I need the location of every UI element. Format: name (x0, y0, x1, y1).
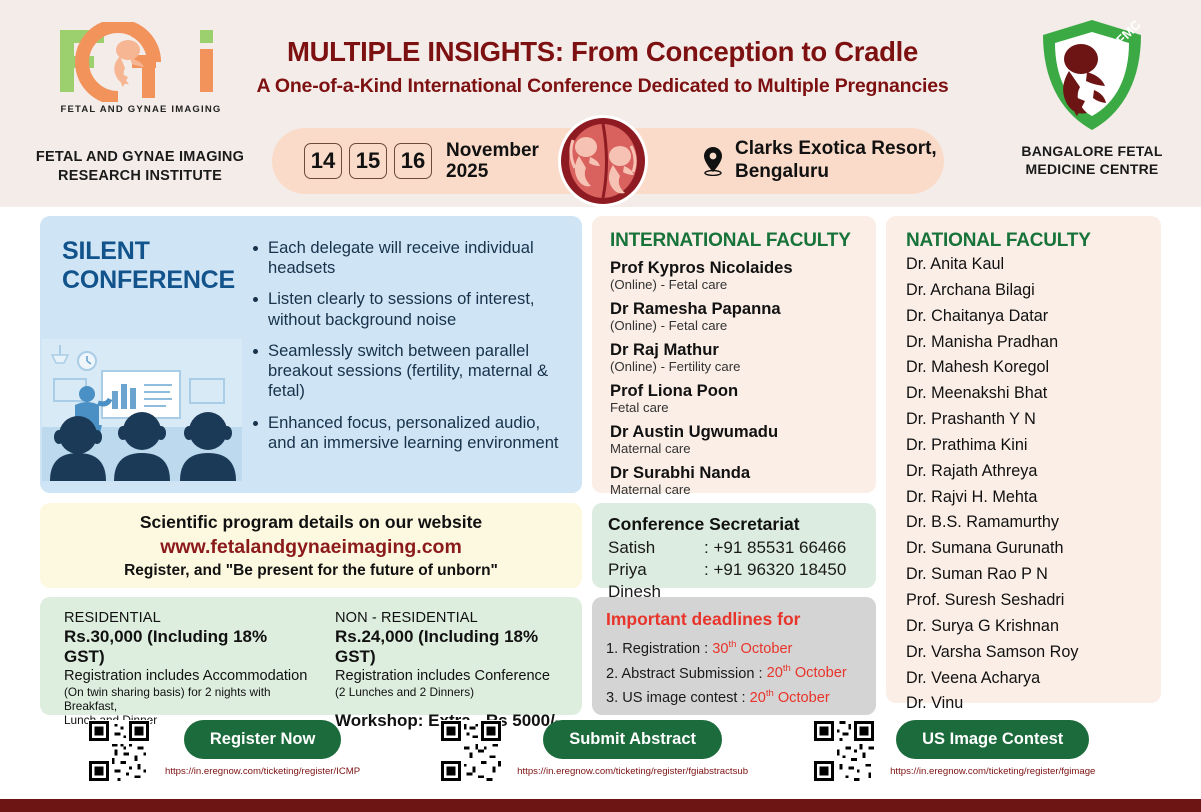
page-title: MULTIPLE INSIGHTS: From Conception to Cr… (240, 36, 965, 68)
national-faculty-title: NATIONAL FACULTY (906, 230, 1145, 252)
national-faculty-panel: NATIONAL FACULTY Dr. Anita Kaul Dr. Arch… (886, 216, 1161, 703)
residential-fee-block: RESIDENTIAL Rs.30,000 (Including 18% GST… (40, 610, 311, 715)
deadline-label: US image contest : (622, 690, 749, 706)
list-item: Dr. Meenakshi Bhat (906, 381, 1145, 407)
fgi-logo-icon (46, 22, 236, 102)
list-item: Prof Liona Poon Fetal care (610, 381, 860, 416)
fgi-logo-mark (46, 22, 236, 102)
title-block: MULTIPLE INSIGHTS: From Conception to Cr… (240, 36, 965, 98)
deadline-date: 20th October (750, 690, 830, 706)
website-url[interactable]: www.fetalandgynaeimaging.com (160, 536, 462, 559)
silent-conference-title: SILENTCONFERENCE (40, 216, 245, 295)
register-url[interactable]: https://in.eregnow.com/ticketing/registe… (165, 766, 360, 777)
conference-audience-icon (42, 339, 242, 481)
list-item: Listen clearly to sessions of interest, … (251, 289, 570, 329)
bfmc-logo: BFMC BANGALORE FETALMEDICINE CENTRE (1007, 16, 1177, 178)
list-item: Dr. Archana Bilagi (906, 278, 1145, 304)
silent-conference-left: SILENTCONFERENCE (40, 216, 245, 493)
faculty-name: Dr Raj Mathur (610, 340, 860, 359)
list-item: Dr. Prashanth Y N (906, 407, 1145, 433)
list-item: Dr. Mahesh Koregol (906, 355, 1145, 381)
poster-header: FETAL AND GYNAE IMAGING FETAL AND GYNAE … (0, 0, 1201, 207)
faculty-name: Prof Kypros Nicolaides (610, 258, 860, 277)
list-item: Dr. Manisha Pradhan (906, 330, 1145, 356)
list-item: 1. Registration : 30th October (606, 637, 876, 662)
date-day-2: 15 (349, 143, 387, 179)
international-faculty-panel: INTERNATIONAL FACULTY Prof Kypros Nicola… (592, 216, 876, 493)
qr-code-icon (814, 721, 874, 781)
qr-code-icon (89, 721, 149, 781)
contact-name: Satish (608, 537, 704, 559)
list-item: Dr Ramesha Papanna (Online) - Fetal care (610, 299, 860, 334)
image-contest-qr-code[interactable] (813, 720, 875, 782)
website-line-1: Scientific program details on our websit… (140, 512, 482, 533)
date-day-1: 14 (304, 143, 342, 179)
website-line-3: Register, and "Be present for the future… (124, 562, 498, 580)
list-item: 2. Abstract Submission : 20th October (606, 662, 876, 687)
deadline-date: 20th October (767, 665, 847, 681)
image-contest-cta-right: US Image Contest https://in.eregnow.com/… (890, 720, 1095, 777)
fee-price: Rs.30,000 (Including 18% GST) (64, 627, 311, 667)
faculty-name: Prof Liona Poon (610, 381, 860, 400)
abstract-cta-right: Submit Abstract https://in.eregnow.com/t… (517, 720, 748, 777)
fees-panel: RESIDENTIAL Rs.30,000 (Including 18% GST… (40, 597, 582, 715)
list-item: Prof Kypros Nicolaides (Online) - Fetal … (610, 258, 860, 293)
register-cta-right: Register Now https://in.eregnow.com/tick… (165, 720, 360, 777)
conference-poster: FETAL AND GYNAE IMAGING FETAL AND GYNAE … (0, 0, 1201, 812)
qr-code-icon (441, 721, 501, 781)
deadline-label: Abstract Submission : (621, 665, 766, 681)
website-panel: Scientific program details on our websit… (40, 503, 582, 588)
fee-includes: Registration includes Accommodation (64, 668, 311, 685)
fee-price: Rs.24,000 (Including 18% GST) (335, 627, 582, 667)
deadline-label: Registration : (622, 641, 712, 657)
fgi-logo-caption: FETAL AND GYNAE IMAGING (46, 104, 236, 115)
fgi-institute-name: FETAL AND GYNAE IMAGING RESEARCH INSTITU… (20, 148, 260, 185)
list-item: Dr. Prathima Kini (906, 433, 1145, 459)
deadlines-title: Important deadlines for (606, 609, 876, 630)
list-item: Dr. Sumana Gurunath (906, 536, 1145, 562)
deadline-number: 2. (606, 665, 618, 681)
fee-note-1: (2 Lunches and 2 Dinners) (335, 685, 582, 699)
contact-phone: : +91 85531 66466 (704, 537, 846, 559)
list-item: Dr Surabhi Nanda Maternal care (610, 463, 860, 498)
list-item: Dr. Surya G Krishnan (906, 614, 1145, 640)
list-item: Dr. Chaitanya Datar (906, 304, 1145, 330)
list-item: Dr. Rajvi H. Mehta (906, 485, 1145, 511)
abstract-cta-group: Submit Abstract https://in.eregnow.com/t… (440, 720, 748, 810)
register-now-button[interactable]: Register Now (184, 720, 341, 759)
abstract-qr-code[interactable] (440, 720, 502, 782)
cta-row: Register Now https://in.eregnow.com/tick… (0, 720, 1201, 810)
fgi-logo: FETAL AND GYNAE IMAGING (46, 22, 236, 115)
location-pin-icon (702, 146, 724, 176)
silent-conference-panel: SILENTCONFERENCE (40, 216, 582, 493)
image-contest-cta-group: US Image Contest https://in.eregnow.com/… (813, 720, 1095, 810)
register-cta-group: Register Now https://in.eregnow.com/tick… (88, 720, 360, 810)
list-item: Dr. Veena Acharya (906, 666, 1145, 692)
list-item: Dr. Varsha Samson Roy (906, 640, 1145, 666)
secretariat-title: Conference Secretariat (608, 514, 876, 535)
date-venue-bar: 14 15 16 November2025 (272, 128, 944, 194)
list-item: Dr. B.S. Ramamurthy (906, 510, 1145, 536)
register-qr-code[interactable] (88, 720, 150, 782)
list-item: Dr. Suman Rao P N (906, 562, 1145, 588)
faculty-role: Fetal care (610, 400, 860, 416)
faculty-name: Dr Austin Ugwumadu (610, 422, 860, 441)
list-item: Seamlessly switch between parallel break… (251, 341, 570, 402)
fee-kind: NON - RESIDENTIAL (335, 610, 582, 626)
list-item: Dr. Anita Kaul (906, 252, 1145, 278)
abstract-url[interactable]: https://in.eregnow.com/ticketing/registe… (517, 766, 748, 777)
bfmc-name: BANGALORE FETALMEDICINE CENTRE (1007, 143, 1177, 178)
faculty-role: Maternal care (610, 441, 860, 457)
fee-includes: Registration includes Conference (335, 668, 582, 685)
deadline-number: 3. (606, 690, 618, 706)
faculty-role: (Online) - Fertility care (610, 359, 860, 375)
list-item: Dr Raj Mathur (Online) - Fertility care (610, 340, 860, 375)
list-item: Each delegate will receive individual he… (251, 238, 570, 278)
image-contest-url[interactable]: https://in.eregnow.com/ticketing/registe… (890, 766, 1095, 777)
list-item: Prof. Suresh Seshadri (906, 588, 1145, 614)
bfmc-shield-icon: BFMC (1037, 16, 1147, 134)
bottom-accent-bar (0, 799, 1201, 812)
venue-name: Clarks Exotica Resort,Bengaluru (735, 138, 937, 184)
deadline-number: 1. (606, 641, 618, 657)
poster-body: SILENTCONFERENCE (0, 207, 1201, 812)
fee-kind: RESIDENTIAL (64, 610, 311, 626)
deadline-date: 30th October (712, 641, 792, 657)
submit-abstract-button[interactable]: Submit Abstract (543, 720, 722, 759)
silent-conference-benefits: Each delegate will receive individual he… (245, 216, 582, 493)
list-item: Dr. Vinu (906, 691, 1145, 717)
faculty-name: Dr Surabhi Nanda (610, 463, 860, 482)
international-faculty-title: INTERNATIONAL FACULTY (610, 230, 860, 252)
faculty-name: Dr Ramesha Papanna (610, 299, 860, 318)
venue-block: Clarks Exotica Resort,Bengaluru (702, 138, 937, 184)
faculty-role: (Online) - Fetal care (610, 318, 860, 334)
conference-dates: 14 15 16 (304, 143, 432, 179)
list-item: Enhanced focus, personalized audio, and … (251, 413, 570, 453)
list-item: Satish : +91 85531 66466 (608, 537, 876, 559)
secretariat-panel: Conference Secretariat Satish : +91 8553… (592, 503, 876, 588)
deadlines-panel: Important deadlines for 1. Registration … (592, 597, 876, 715)
date-month-year: November2025 (446, 140, 539, 183)
list-item: 3. US image contest : 20th October (606, 686, 876, 711)
list-item: Dr Austin Ugwumadu Maternal care (610, 422, 860, 457)
page-subtitle: A One-of-a-Kind International Conference… (240, 75, 965, 98)
faculty-role: Maternal care (610, 482, 860, 498)
faculty-role: (Online) - Fetal care (610, 277, 860, 293)
twin-fetus-icon (557, 114, 649, 208)
silent-conference-illustration (42, 339, 242, 481)
date-day-3: 16 (394, 143, 432, 179)
fee-note-1: (On twin sharing basis) for 2 nights wit… (64, 685, 311, 713)
non-residential-fee-block: NON - RESIDENTIAL Rs.24,000 (Including 1… (311, 610, 582, 715)
us-image-contest-button[interactable]: US Image Contest (896, 720, 1089, 759)
list-item: Dr. Rajath Athreya (906, 459, 1145, 485)
